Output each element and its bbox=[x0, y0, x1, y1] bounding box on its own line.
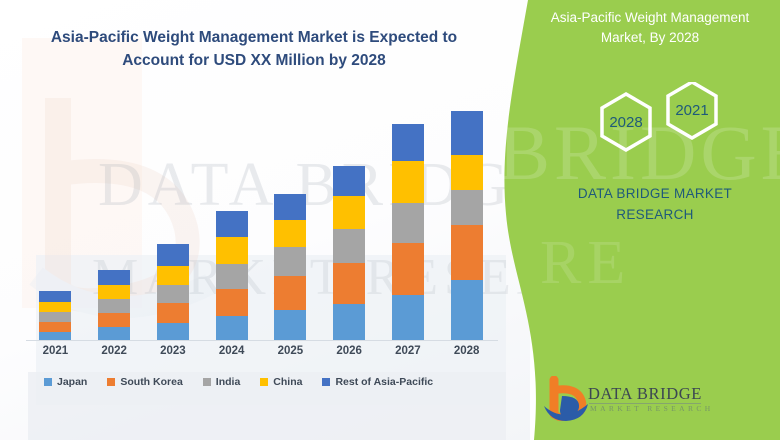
bar-segment-south-korea-2022[interactable] bbox=[98, 313, 130, 327]
legend-swatch-icon bbox=[322, 378, 330, 386]
infographic-canvas: DATA BRIDGE MARKET RESEARCH Asia-Pacific… bbox=[0, 0, 780, 440]
bar-segment-china-2024[interactable] bbox=[216, 237, 248, 264]
hexagon-group: 2028 2021 bbox=[590, 82, 770, 182]
bar-segment-rest-of-asia-pacific-2028[interactable] bbox=[451, 111, 483, 155]
bar-segment-rest-of-asia-pacific-2024[interactable] bbox=[216, 211, 248, 237]
hexagon-label-2028: 2028 bbox=[604, 114, 648, 131]
x-axis-tick-2027: 2027 bbox=[379, 345, 438, 357]
bar-segment-india-2022[interactable] bbox=[98, 299, 130, 313]
x-axis-tick-2026: 2026 bbox=[320, 345, 379, 357]
legend-item-japan[interactable]: Japan bbox=[44, 376, 87, 388]
bar-segment-china-2022[interactable] bbox=[98, 285, 130, 299]
panel-brand-line-2: RESEARCH bbox=[540, 205, 770, 226]
bar-segment-japan-2022[interactable] bbox=[98, 327, 130, 340]
bar-segment-south-korea-2025[interactable] bbox=[274, 276, 306, 310]
bar-segment-south-korea-2026[interactable] bbox=[333, 263, 365, 304]
bar-slot-2022 bbox=[85, 96, 144, 340]
stacked-bar-2022[interactable] bbox=[98, 270, 130, 340]
bar-segment-rest-of-asia-pacific-2021[interactable] bbox=[39, 291, 71, 302]
chart-legend: JapanSouth KoreaIndiaChinaRest of Asia-P… bbox=[44, 376, 494, 388]
bar-segment-south-korea-2023[interactable] bbox=[157, 303, 189, 323]
stacked-bar-2028[interactable] bbox=[451, 111, 483, 340]
legend-label: South Korea bbox=[120, 376, 182, 388]
logo-subtitle: MARKET RESEARCH bbox=[590, 404, 714, 413]
chart-title-line-2: Account for USD XX Million by 2028 bbox=[34, 49, 474, 72]
panel-title-line-2: Market, By 2028 bbox=[530, 28, 770, 48]
hexagon-outlines-icon bbox=[590, 82, 770, 182]
legend-item-india[interactable]: India bbox=[203, 376, 241, 388]
x-axis-tick-2025: 2025 bbox=[261, 345, 320, 357]
legend-label: Japan bbox=[57, 376, 87, 388]
stacked-bar-2025[interactable] bbox=[274, 194, 306, 340]
bar-slot-2028 bbox=[437, 96, 496, 340]
bar-segment-japan-2025[interactable] bbox=[274, 310, 306, 340]
legend-item-china[interactable]: China bbox=[260, 376, 302, 388]
stacked-bar-2021[interactable] bbox=[39, 291, 71, 340]
bar-segment-rest-of-asia-pacific-2027[interactable] bbox=[392, 124, 424, 161]
bar-segment-south-korea-2028[interactable] bbox=[451, 225, 483, 280]
bar-segment-india-2028[interactable] bbox=[451, 190, 483, 225]
panel-title-line-1: Asia-Pacific Weight Management bbox=[530, 8, 770, 28]
bar-segment-india-2025[interactable] bbox=[274, 247, 306, 276]
bar-segment-south-korea-2024[interactable] bbox=[216, 289, 248, 316]
x-axis-tick-2022: 2022 bbox=[85, 345, 144, 357]
bar-segment-india-2024[interactable] bbox=[216, 264, 248, 289]
bar-segment-india-2021[interactable] bbox=[39, 312, 71, 322]
legend-item-rest-of-asia-pacific[interactable]: Rest of Asia-Pacific bbox=[322, 376, 433, 388]
bar-segment-rest-of-asia-pacific-2025[interactable] bbox=[274, 194, 306, 220]
bar-segment-china-2023[interactable] bbox=[157, 266, 189, 285]
bar-segment-japan-2021[interactable] bbox=[39, 332, 71, 340]
bar-segment-india-2027[interactable] bbox=[392, 203, 424, 243]
bar-segment-rest-of-asia-pacific-2026[interactable] bbox=[333, 166, 365, 196]
stacked-bar-2027[interactable] bbox=[392, 124, 424, 340]
bar-segment-china-2025[interactable] bbox=[274, 220, 306, 247]
panel-brand-line-1: DATA BRIDGE MARKET bbox=[540, 184, 770, 205]
stacked-bar-2023[interactable] bbox=[157, 244, 189, 340]
bar-slot-2023 bbox=[144, 96, 203, 340]
x-axis-tick-2023: 2023 bbox=[144, 345, 203, 357]
bar-segment-china-2026[interactable] bbox=[333, 196, 365, 229]
bar-segment-rest-of-asia-pacific-2022[interactable] bbox=[98, 270, 130, 285]
panel-title: Asia-Pacific Weight Management Market, B… bbox=[530, 8, 770, 49]
bar-segment-china-2021[interactable] bbox=[39, 302, 71, 312]
legend-label: Rest of Asia-Pacific bbox=[335, 376, 433, 388]
bar-slot-2026 bbox=[320, 96, 379, 340]
legend-swatch-icon bbox=[260, 378, 268, 386]
legend-swatch-icon bbox=[203, 378, 211, 386]
bar-segment-south-korea-2021[interactable] bbox=[39, 322, 71, 332]
bar-segment-japan-2023[interactable] bbox=[157, 323, 189, 340]
green-watermark-line2: RE bbox=[540, 228, 631, 299]
legend-item-south-korea[interactable]: South Korea bbox=[107, 376, 182, 388]
x-axis-line bbox=[26, 340, 498, 341]
chart-title: Asia-Pacific Weight Management Market is… bbox=[34, 26, 474, 73]
bar-slot-2027 bbox=[379, 96, 438, 340]
logo-title: DATA BRIDGE bbox=[588, 384, 702, 404]
stacked-bar-2026[interactable] bbox=[333, 166, 365, 340]
bar-segment-china-2028[interactable] bbox=[451, 155, 483, 190]
bar-segment-south-korea-2027[interactable] bbox=[392, 243, 424, 295]
legend-label: India bbox=[216, 376, 241, 388]
bar-segment-japan-2028[interactable] bbox=[451, 280, 483, 340]
bar-segment-japan-2024[interactable] bbox=[216, 316, 248, 340]
x-axis-tick-2021: 2021 bbox=[26, 345, 85, 357]
legend-swatch-icon bbox=[107, 378, 115, 386]
bar-slot-2024 bbox=[202, 96, 261, 340]
bar-segment-japan-2027[interactable] bbox=[392, 295, 424, 340]
bar-segment-japan-2026[interactable] bbox=[333, 304, 365, 340]
chart-title-line-1: Asia-Pacific Weight Management Market is… bbox=[34, 26, 474, 49]
stacked-bar-chart bbox=[26, 96, 496, 340]
x-axis-tick-2028: 2028 bbox=[437, 345, 496, 357]
stacked-bar-2024[interactable] bbox=[216, 211, 248, 340]
bar-segment-india-2023[interactable] bbox=[157, 285, 189, 303]
legend-label: China bbox=[273, 376, 302, 388]
legend-swatch-icon bbox=[44, 378, 52, 386]
x-axis-labels: 20212022202320242025202620272028 bbox=[26, 345, 496, 357]
hexagon-label-2021: 2021 bbox=[670, 102, 714, 119]
bar-slot-2025 bbox=[261, 96, 320, 340]
x-axis-tick-2024: 2024 bbox=[202, 345, 261, 357]
bar-segment-rest-of-asia-pacific-2023[interactable] bbox=[157, 244, 189, 266]
bar-segment-india-2026[interactable] bbox=[333, 229, 365, 263]
panel-brand-text: DATA BRIDGE MARKET RESEARCH bbox=[540, 184, 770, 226]
bar-slot-2021 bbox=[26, 96, 85, 340]
bar-segment-china-2027[interactable] bbox=[392, 161, 424, 203]
